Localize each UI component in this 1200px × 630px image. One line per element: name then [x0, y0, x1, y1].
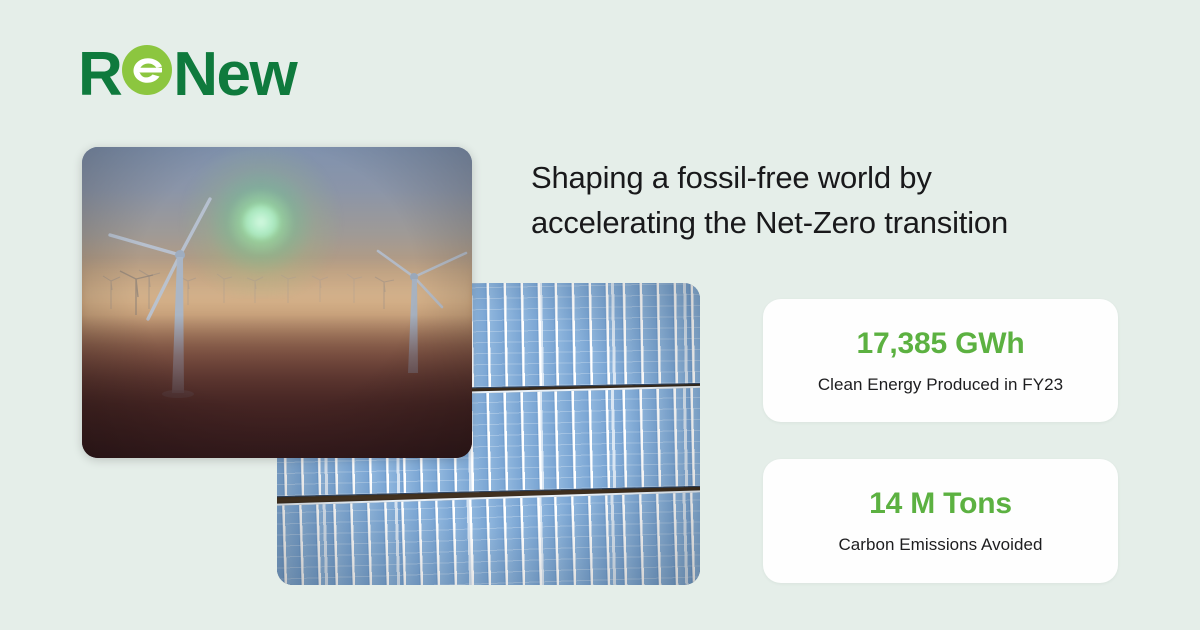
- headline: Shaping a fossil-free world by accelerat…: [531, 155, 1111, 245]
- wind-turbine-icon: [245, 275, 265, 303]
- e-leaf-circle-icon: [122, 45, 172, 95]
- stat-label: Carbon Emissions Avoided: [838, 535, 1042, 555]
- solar-panel-row: [277, 490, 700, 585]
- promo-banner: R New: [0, 0, 1200, 630]
- logo-letters-new: New: [173, 44, 296, 106]
- stat-label: Clean Energy Produced in FY23: [818, 375, 1063, 395]
- stat-card-clean-energy[interactable]: 17,385 GWh Clean Energy Produced in FY23: [763, 299, 1118, 422]
- sun-core: [244, 206, 278, 238]
- renew-logo[interactable]: R New: [78, 44, 296, 116]
- stat-value: 17,385 GWh: [856, 327, 1024, 361]
- wind-turbine-icon: [310, 274, 330, 302]
- headline-line-1: Shaping a fossil-free world by: [531, 155, 1111, 200]
- stat-value: 14 M Tons: [869, 487, 1012, 521]
- wind-turbine-icon: [344, 273, 364, 303]
- headline-line-2: accelerating the Net-Zero transition: [531, 200, 1111, 245]
- wind-turbine-icon: [278, 273, 298, 303]
- logo-letter-r: R: [78, 44, 121, 106]
- stat-card-carbon-avoided[interactable]: 14 M Tons Carbon Emissions Avoided: [763, 459, 1118, 583]
- wind-farm-at-sunrise-photo: [82, 147, 472, 458]
- ground-haze-layer: [82, 315, 472, 458]
